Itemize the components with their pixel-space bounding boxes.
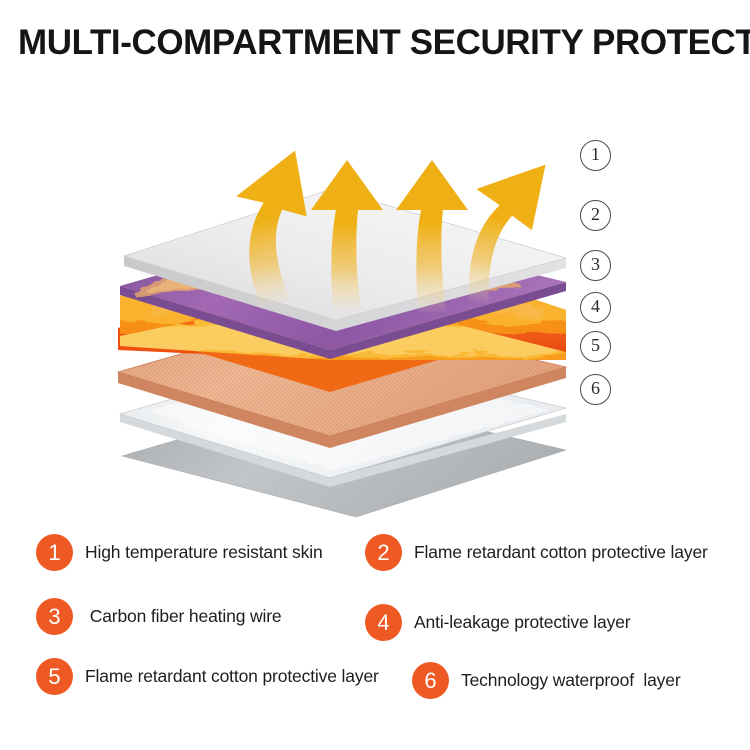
legend-item-5: 5 Flame retardant cotton protective laye…: [36, 658, 379, 695]
layer-index-6: 6: [580, 374, 611, 405]
legend-item-4: 4 Anti-leakage protective layer: [365, 604, 630, 641]
layer-stack-diagram: 1 2 3 4 5 6: [0, 60, 750, 520]
legend-item-3: 3 Carbon fiber heating wire: [36, 598, 282, 635]
legend-item-6: 6 Technology waterproof layer: [412, 662, 681, 699]
legend: 1 High temperature resistant skin 2 Flam…: [0, 522, 750, 722]
legend-label-6: Technology waterproof layer: [461, 670, 681, 691]
legend-label-1: High temperature resistant skin: [85, 542, 323, 563]
legend-label-4: Anti-leakage protective layer: [414, 612, 630, 633]
legend-label-3: Carbon fiber heating wire: [85, 606, 282, 627]
legend-badge-2: 2: [365, 534, 402, 571]
layer-index-3: 3: [580, 250, 611, 281]
legend-badge-4: 4: [365, 604, 402, 641]
legend-badge-6: 6: [412, 662, 449, 699]
legend-item-2: 2 Flame retardant cotton protective laye…: [365, 534, 708, 571]
legend-label-5: Flame retardant cotton protective layer: [85, 666, 379, 687]
layer-index-2: 2: [580, 200, 611, 231]
layer-index-1: 1: [580, 140, 611, 171]
page-title: MULTI-COMPARTMENT SECURITY PROTECTION: [18, 20, 721, 64]
infographic-page: MULTI-COMPARTMENT SECURITY PROTECTION: [0, 0, 750, 750]
legend-item-1: 1 High temperature resistant skin: [36, 534, 323, 571]
legend-badge-1: 1: [36, 534, 73, 571]
legend-badge-5: 5: [36, 658, 73, 695]
layer-index-4: 4: [580, 292, 611, 323]
layer-index-5: 5: [580, 331, 611, 362]
layer-stack-illustration: [0, 60, 750, 520]
legend-label-2: Flame retardant cotton protective layer: [414, 542, 708, 563]
legend-badge-3: 3: [36, 598, 73, 635]
